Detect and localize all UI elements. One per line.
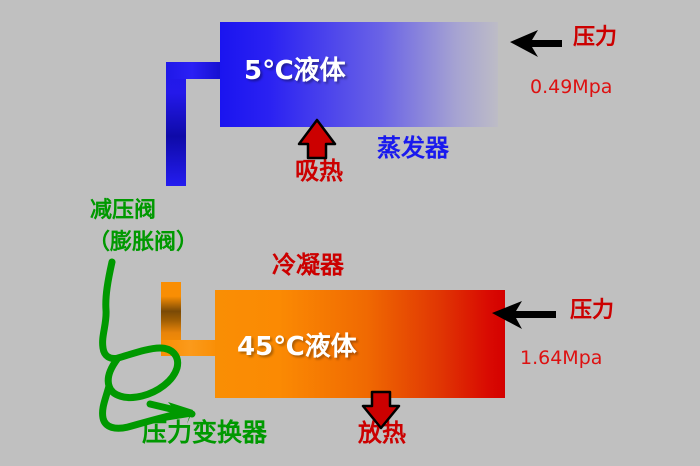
expansion-valve-label-line1: 减压阀 xyxy=(90,198,156,224)
evaporator-name-label: 蒸发器 xyxy=(377,135,449,163)
condenser-pressure-label: 压力 xyxy=(570,298,614,323)
evaporator-pipe-vertical xyxy=(166,62,186,186)
pressure-converter-label: 压力变换器 xyxy=(142,418,267,448)
evaporator-pressure-label: 压力 xyxy=(573,25,617,50)
condenser-pressure-value: 1.64Mpa xyxy=(520,347,602,369)
evaporator-pipe-horizontal xyxy=(166,62,224,79)
left-arrow-icon-top xyxy=(510,30,562,57)
condenser-name-label: 冷凝器 xyxy=(272,252,344,280)
evaporator-box: 5℃液体 xyxy=(220,22,498,127)
evaporator-box-label: 5℃液体 xyxy=(244,50,346,87)
absorb-heat-label: 吸热 xyxy=(295,158,343,186)
condenser-pipe-horizontal xyxy=(161,340,219,356)
expansion-valve-label-line2: （膨胀阀） xyxy=(88,230,198,256)
condenser-pipe-vertical xyxy=(161,282,181,347)
diagram-canvas: 5℃液体 蒸发器 吸热 压力 0.49Mpa 45℃液体 冷凝器 放热 压力 1… xyxy=(0,0,700,466)
release-heat-label: 放热 xyxy=(358,420,406,448)
condenser-box-label: 45℃液体 xyxy=(237,326,357,363)
condenser-box: 45℃液体 xyxy=(215,290,505,398)
evaporator-pressure-value: 0.49Mpa xyxy=(530,76,612,98)
